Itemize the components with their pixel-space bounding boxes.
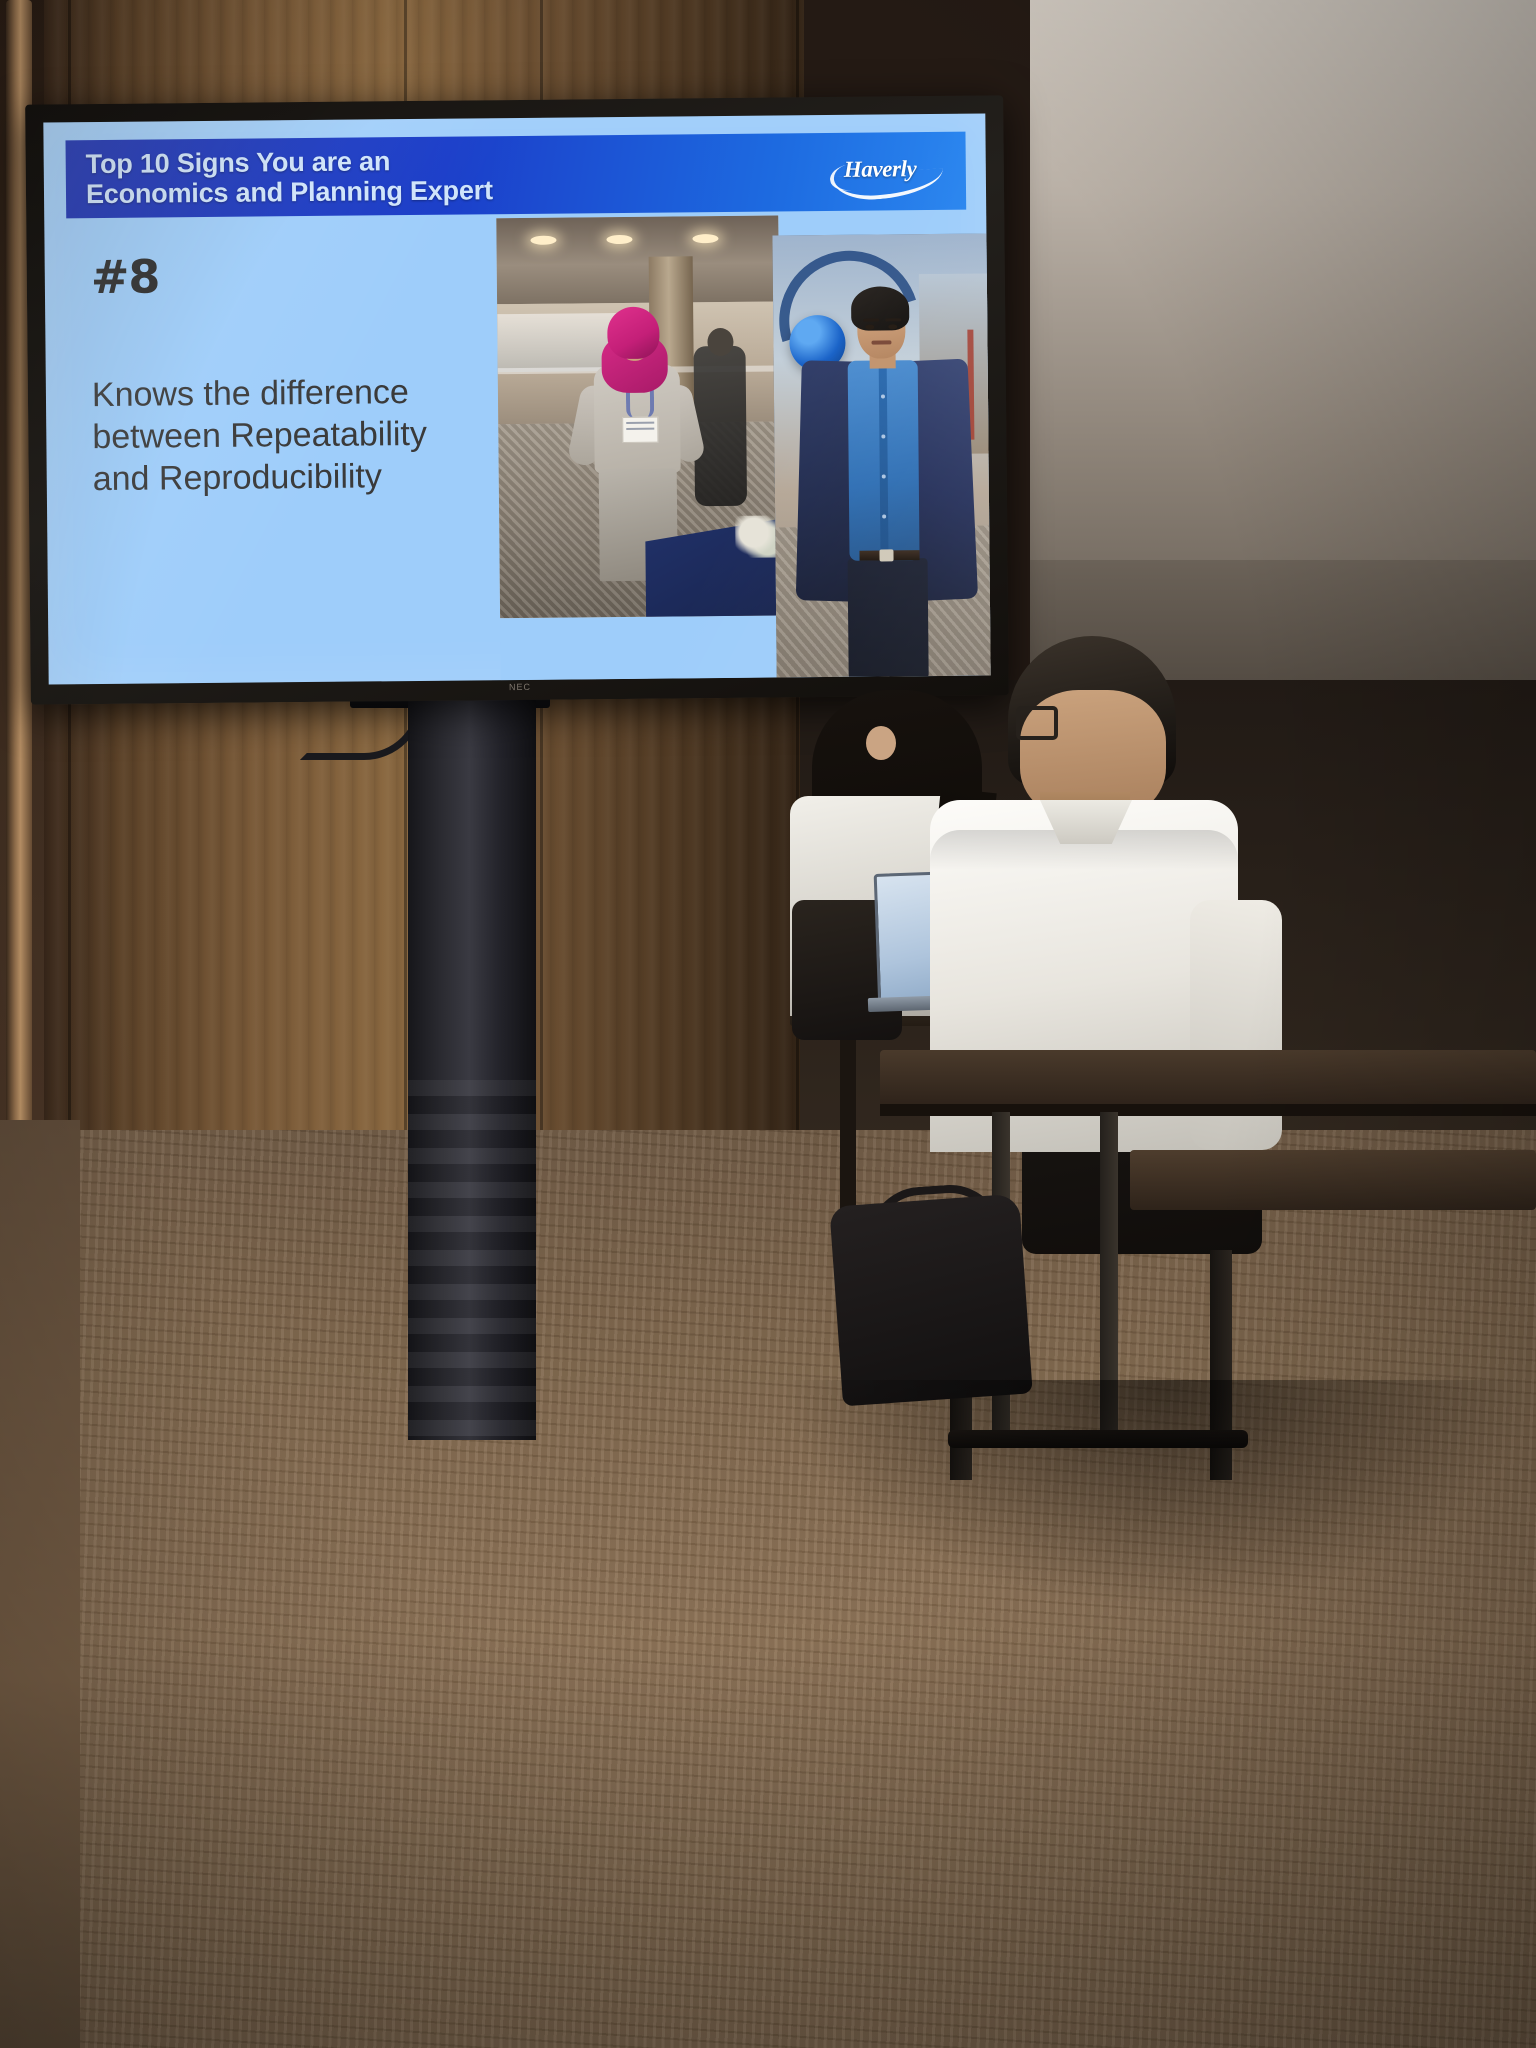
conference-table-near-edge: [880, 1104, 1536, 1116]
slide-body-line1: Knows the difference: [92, 370, 487, 416]
photo-man-eye: [888, 324, 897, 329]
conference-table-near: [880, 1050, 1536, 1110]
photo-man-brow: [863, 319, 879, 322]
photo-man-mouth: [871, 340, 891, 344]
slide-title-line2: Economics and Planning Expert: [86, 175, 493, 209]
photo-ceiling: [496, 215, 779, 304]
attendee-1-ear: [866, 726, 896, 760]
photo-man-belt-buckle: [879, 549, 893, 561]
slide-title-line1: Top 10 Signs You are an: [86, 146, 391, 179]
conference-room-photo: NEC Top 10 Signs You are an Economics an…: [0, 0, 1536, 2048]
slide-number: #8: [91, 249, 160, 304]
photo-woman-hair: [607, 307, 659, 359]
haverly-logo: Haverly: [830, 146, 948, 199]
shirt-button: [882, 514, 886, 518]
slide-background-strip: [500, 616, 779, 681]
shirt-button: [881, 394, 885, 398]
photo-woman-badge: [622, 417, 658, 443]
slide-title: Top 10 Signs You are an Economics and Pl…: [66, 145, 493, 209]
floor-shadow: [780, 1380, 1536, 1610]
display-stand-cover: [408, 1080, 536, 1440]
glasses-icon: [1016, 706, 1058, 740]
photo-man-brow: [885, 318, 901, 321]
photo-woman-lobby: [496, 215, 782, 618]
photo-man-eye: [865, 325, 874, 330]
photo-background-person: [694, 346, 748, 506]
photo-man-blazer: [772, 233, 990, 677]
display-screen[interactable]: Top 10 Signs You are an Economics and Pl…: [43, 113, 990, 684]
backpack: [829, 1194, 1032, 1407]
shirt-button: [881, 434, 885, 438]
photo-man-hair: [851, 286, 909, 331]
photo-man-trousers: [848, 558, 929, 677]
logo-wordmark: Haverly: [844, 156, 917, 183]
photo-background-person-head: [707, 328, 733, 356]
carpet-left-runner: [0, 1120, 80, 2048]
slide-title-bar: Top 10 Signs You are an Economics and Pl…: [65, 132, 966, 219]
shirt-button: [882, 474, 886, 478]
slide-body-line2: between Repeatability: [92, 412, 487, 458]
table-leg: [840, 1026, 856, 1226]
back-wall: [1030, 0, 1536, 640]
conference-table-right: [1130, 1150, 1536, 1210]
slide-body-line3: and Reproducibility: [93, 454, 488, 500]
slide-body-text: Knows the difference between Repeatabili…: [92, 370, 488, 500]
display-brand-label: NEC: [500, 682, 540, 694]
